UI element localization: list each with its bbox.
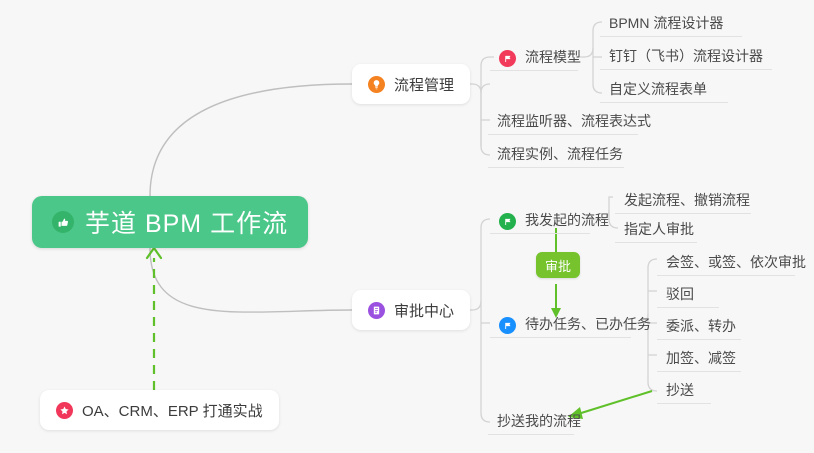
node-todo-done-tasks[interactable]: 待办任务、已办任务 xyxy=(490,309,631,338)
node-label: 自定义流程表单 xyxy=(609,79,707,99)
approval-badge: 审批 xyxy=(536,252,580,278)
node-countersign-orsign-sequential[interactable]: 会签、或签、依次审批 xyxy=(657,247,795,276)
node-label: 加签、减签 xyxy=(666,348,736,368)
node-custom-process-form[interactable]: 自定义流程表单 xyxy=(600,74,728,103)
node-cc-to-me-processes[interactable]: 抄送我的流程 xyxy=(488,406,574,435)
node-reject[interactable]: 驳回 xyxy=(657,279,719,308)
branch-label: 流程管理 xyxy=(394,74,454,95)
node-label: BPMN 流程设计器 xyxy=(609,13,723,33)
node-label: 指定人审批 xyxy=(624,219,694,239)
flag-icon-blue xyxy=(499,317,516,334)
node-label: 驳回 xyxy=(666,284,694,304)
node-process-model[interactable]: 流程模型 xyxy=(490,42,578,71)
star-icon xyxy=(56,402,73,419)
flag-icon-red xyxy=(499,50,516,67)
node-label: 流程监听器、流程表达式 xyxy=(497,111,651,131)
mindmap-canvas: 芋道 BPM 工作流 OA、CRM、ERP 打通实战 流程管理 流程模型 BPM… xyxy=(0,0,814,453)
node-process-listener-expression[interactable]: 流程监听器、流程表达式 xyxy=(488,106,638,135)
node-delegate-transfer[interactable]: 委派、转办 xyxy=(657,311,741,340)
root-label: 芋道 BPM 工作流 xyxy=(85,204,288,240)
node-cc[interactable]: 抄送 xyxy=(657,375,711,404)
node-label: 委派、转办 xyxy=(666,316,736,336)
footnote-label: OA、CRM、ERP 打通实战 xyxy=(82,400,263,421)
node-process-instance-task[interactable]: 流程实例、流程任务 xyxy=(488,139,624,168)
node-label: 流程实例、流程任务 xyxy=(497,144,623,164)
flag-icon-green xyxy=(499,213,516,230)
node-start-cancel-process[interactable]: 发起流程、撤销流程 xyxy=(615,185,751,214)
lightbulb-icon xyxy=(368,76,385,93)
node-label: 抄送我的流程 xyxy=(497,411,581,431)
node-dingtalk-feishu-designer[interactable]: 钉钉（飞书）流程设计器 xyxy=(600,41,772,70)
node-label: 会签、或签、依次审批 xyxy=(666,252,806,272)
node-label: 我发起的流程 xyxy=(525,210,609,230)
footnote-node[interactable]: OA、CRM、ERP 打通实战 xyxy=(40,390,279,430)
root-node[interactable]: 芋道 BPM 工作流 xyxy=(32,196,308,248)
node-label: 抄送 xyxy=(666,380,694,400)
thumbs-up-icon xyxy=(52,211,74,233)
node-bpmn-designer[interactable]: BPMN 流程设计器 xyxy=(600,8,742,37)
node-label: 发起流程、撤销流程 xyxy=(624,190,750,210)
node-label: 流程模型 xyxy=(525,47,581,67)
branch-label: 审批中心 xyxy=(394,300,454,321)
approval-badge-label: 审批 xyxy=(545,256,571,275)
branch-process-management[interactable]: 流程管理 xyxy=(352,64,470,104)
branch-approval-center[interactable]: 审批中心 xyxy=(352,290,470,330)
node-add-remove-sign[interactable]: 加签、减签 xyxy=(657,343,741,372)
node-my-initiated-processes[interactable]: 我发起的流程 xyxy=(490,205,590,234)
node-designated-approver[interactable]: 指定人审批 xyxy=(615,214,697,243)
node-label: 钉钉（飞书）流程设计器 xyxy=(609,46,763,66)
node-label: 待办任务、已办任务 xyxy=(525,314,651,334)
clipboard-icon xyxy=(368,302,385,319)
